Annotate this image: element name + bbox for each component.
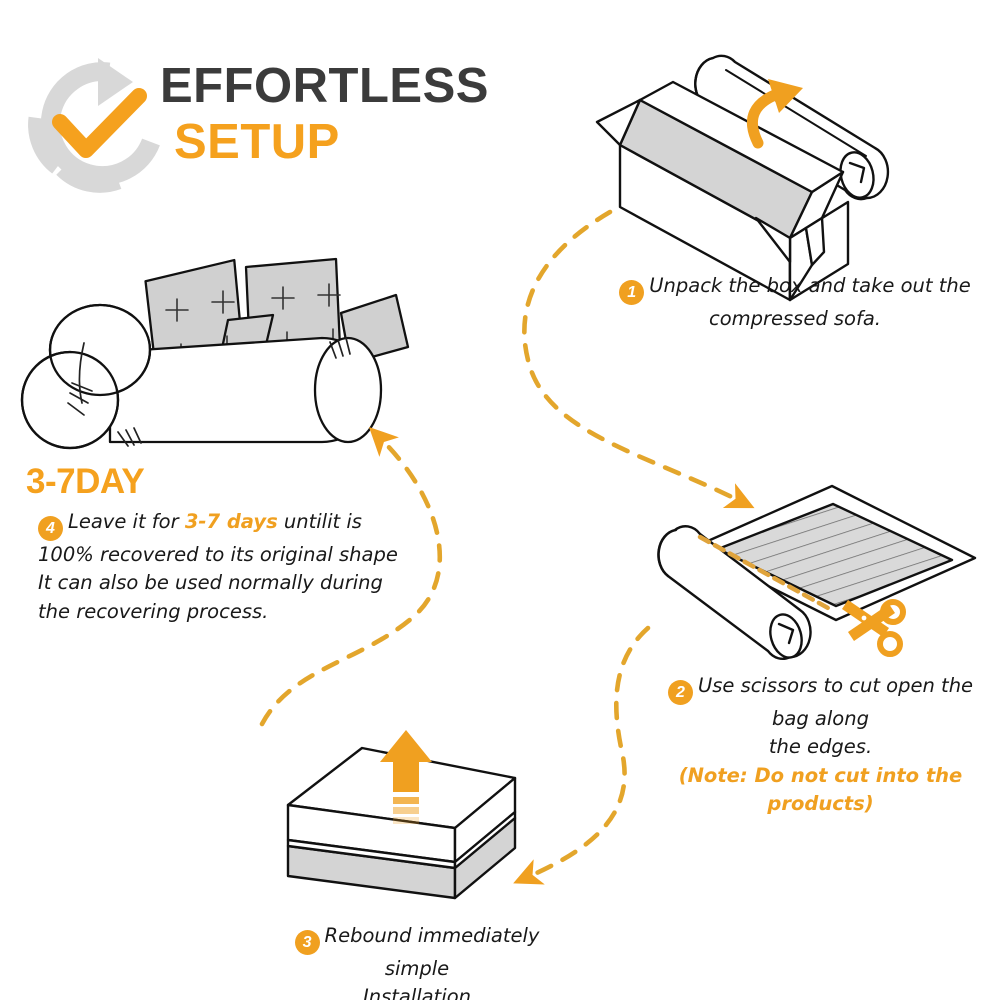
step-2-text: 2Use scissors to cut open the bag along … bbox=[648, 672, 993, 818]
step-4-text: 4Leave it for 3-7 days untilit is 100% r… bbox=[38, 508, 398, 626]
header-title-block: EFFORTLESS SETUP bbox=[160, 62, 580, 168]
step-badge-2: 2 bbox=[668, 680, 693, 705]
step-4-text-before: Leave it for bbox=[68, 510, 185, 533]
step-2-line1: Use scissors to cut open the bag along bbox=[698, 674, 973, 730]
effortless-setup-infographic: EFFORTLESS SETUP 3-7DAY 1Unpack the box … bbox=[0, 0, 1000, 1000]
step-4-highlight: 3-7 days bbox=[185, 510, 278, 533]
step-1-text: 1Unpack the box and take out the compres… bbox=[600, 272, 990, 333]
step-3-text: 3Rebound immediately simple Installation bbox=[272, 922, 562, 1000]
page-title-secondary: SETUP bbox=[174, 117, 580, 168]
step-1-line2: compressed sofa. bbox=[600, 305, 990, 333]
step-badge-3: 3 bbox=[295, 930, 320, 955]
step-1-line1: Unpack the box and take out the bbox=[649, 274, 971, 297]
day-range-label: 3-7DAY bbox=[26, 462, 144, 502]
step-badge-4: 4 bbox=[38, 516, 63, 541]
step-3-line2: Installation bbox=[272, 983, 562, 1000]
step-3-line1: Rebound immediately simple bbox=[325, 924, 540, 980]
step-badge-1: 1 bbox=[619, 280, 644, 305]
page-title-primary: EFFORTLESS bbox=[160, 62, 580, 111]
step-2-note: (Note: Do not cut into the products) bbox=[648, 762, 993, 819]
step-2-line2: the edges. bbox=[648, 733, 993, 761]
